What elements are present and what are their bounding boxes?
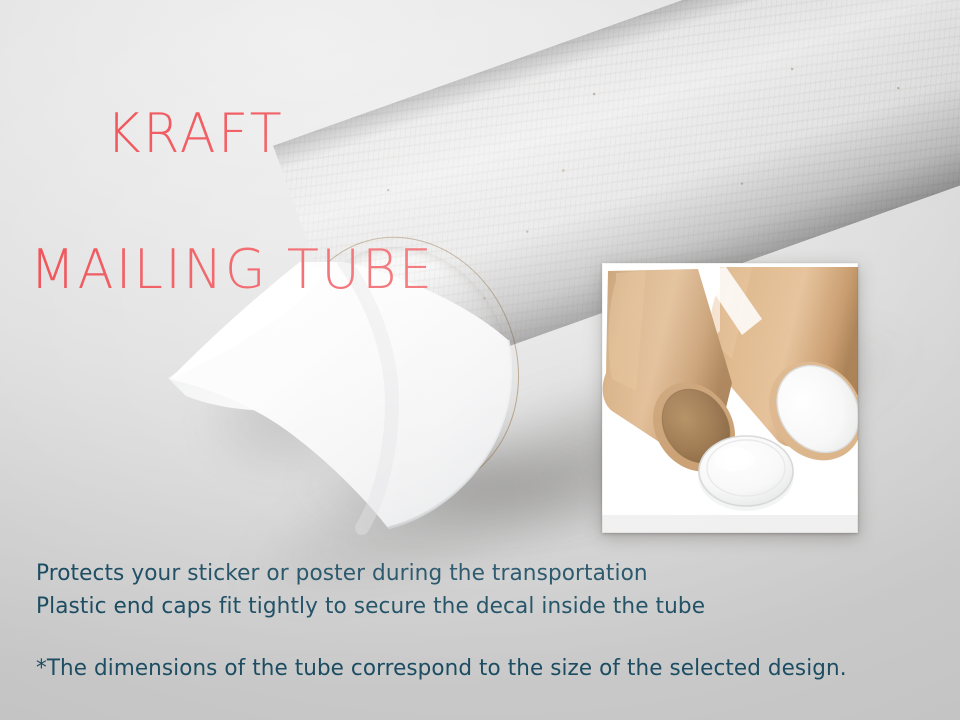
product-banner: KRAFT MAILING TUBE Protects your sticker… xyxy=(0,0,960,720)
product-photo-inset[interactable] xyxy=(602,263,858,533)
page-title: KRAFT MAILING TUBE xyxy=(30,32,434,440)
feature-list: Protects your sticker or poster during t… xyxy=(36,557,705,623)
inset-loose-cap xyxy=(698,436,794,511)
footnote-text: *The dimensions of the tube correspond t… xyxy=(36,655,847,681)
inset-artwork xyxy=(602,263,858,533)
feature-line-1: Protects your sticker or poster during t… xyxy=(36,557,705,590)
title-line-2: MAILING TUBE xyxy=(30,236,434,304)
title-line-1: KRAFT xyxy=(106,102,284,165)
feature-line-2: Plastic end caps fit tightly to secure t… xyxy=(36,590,705,623)
